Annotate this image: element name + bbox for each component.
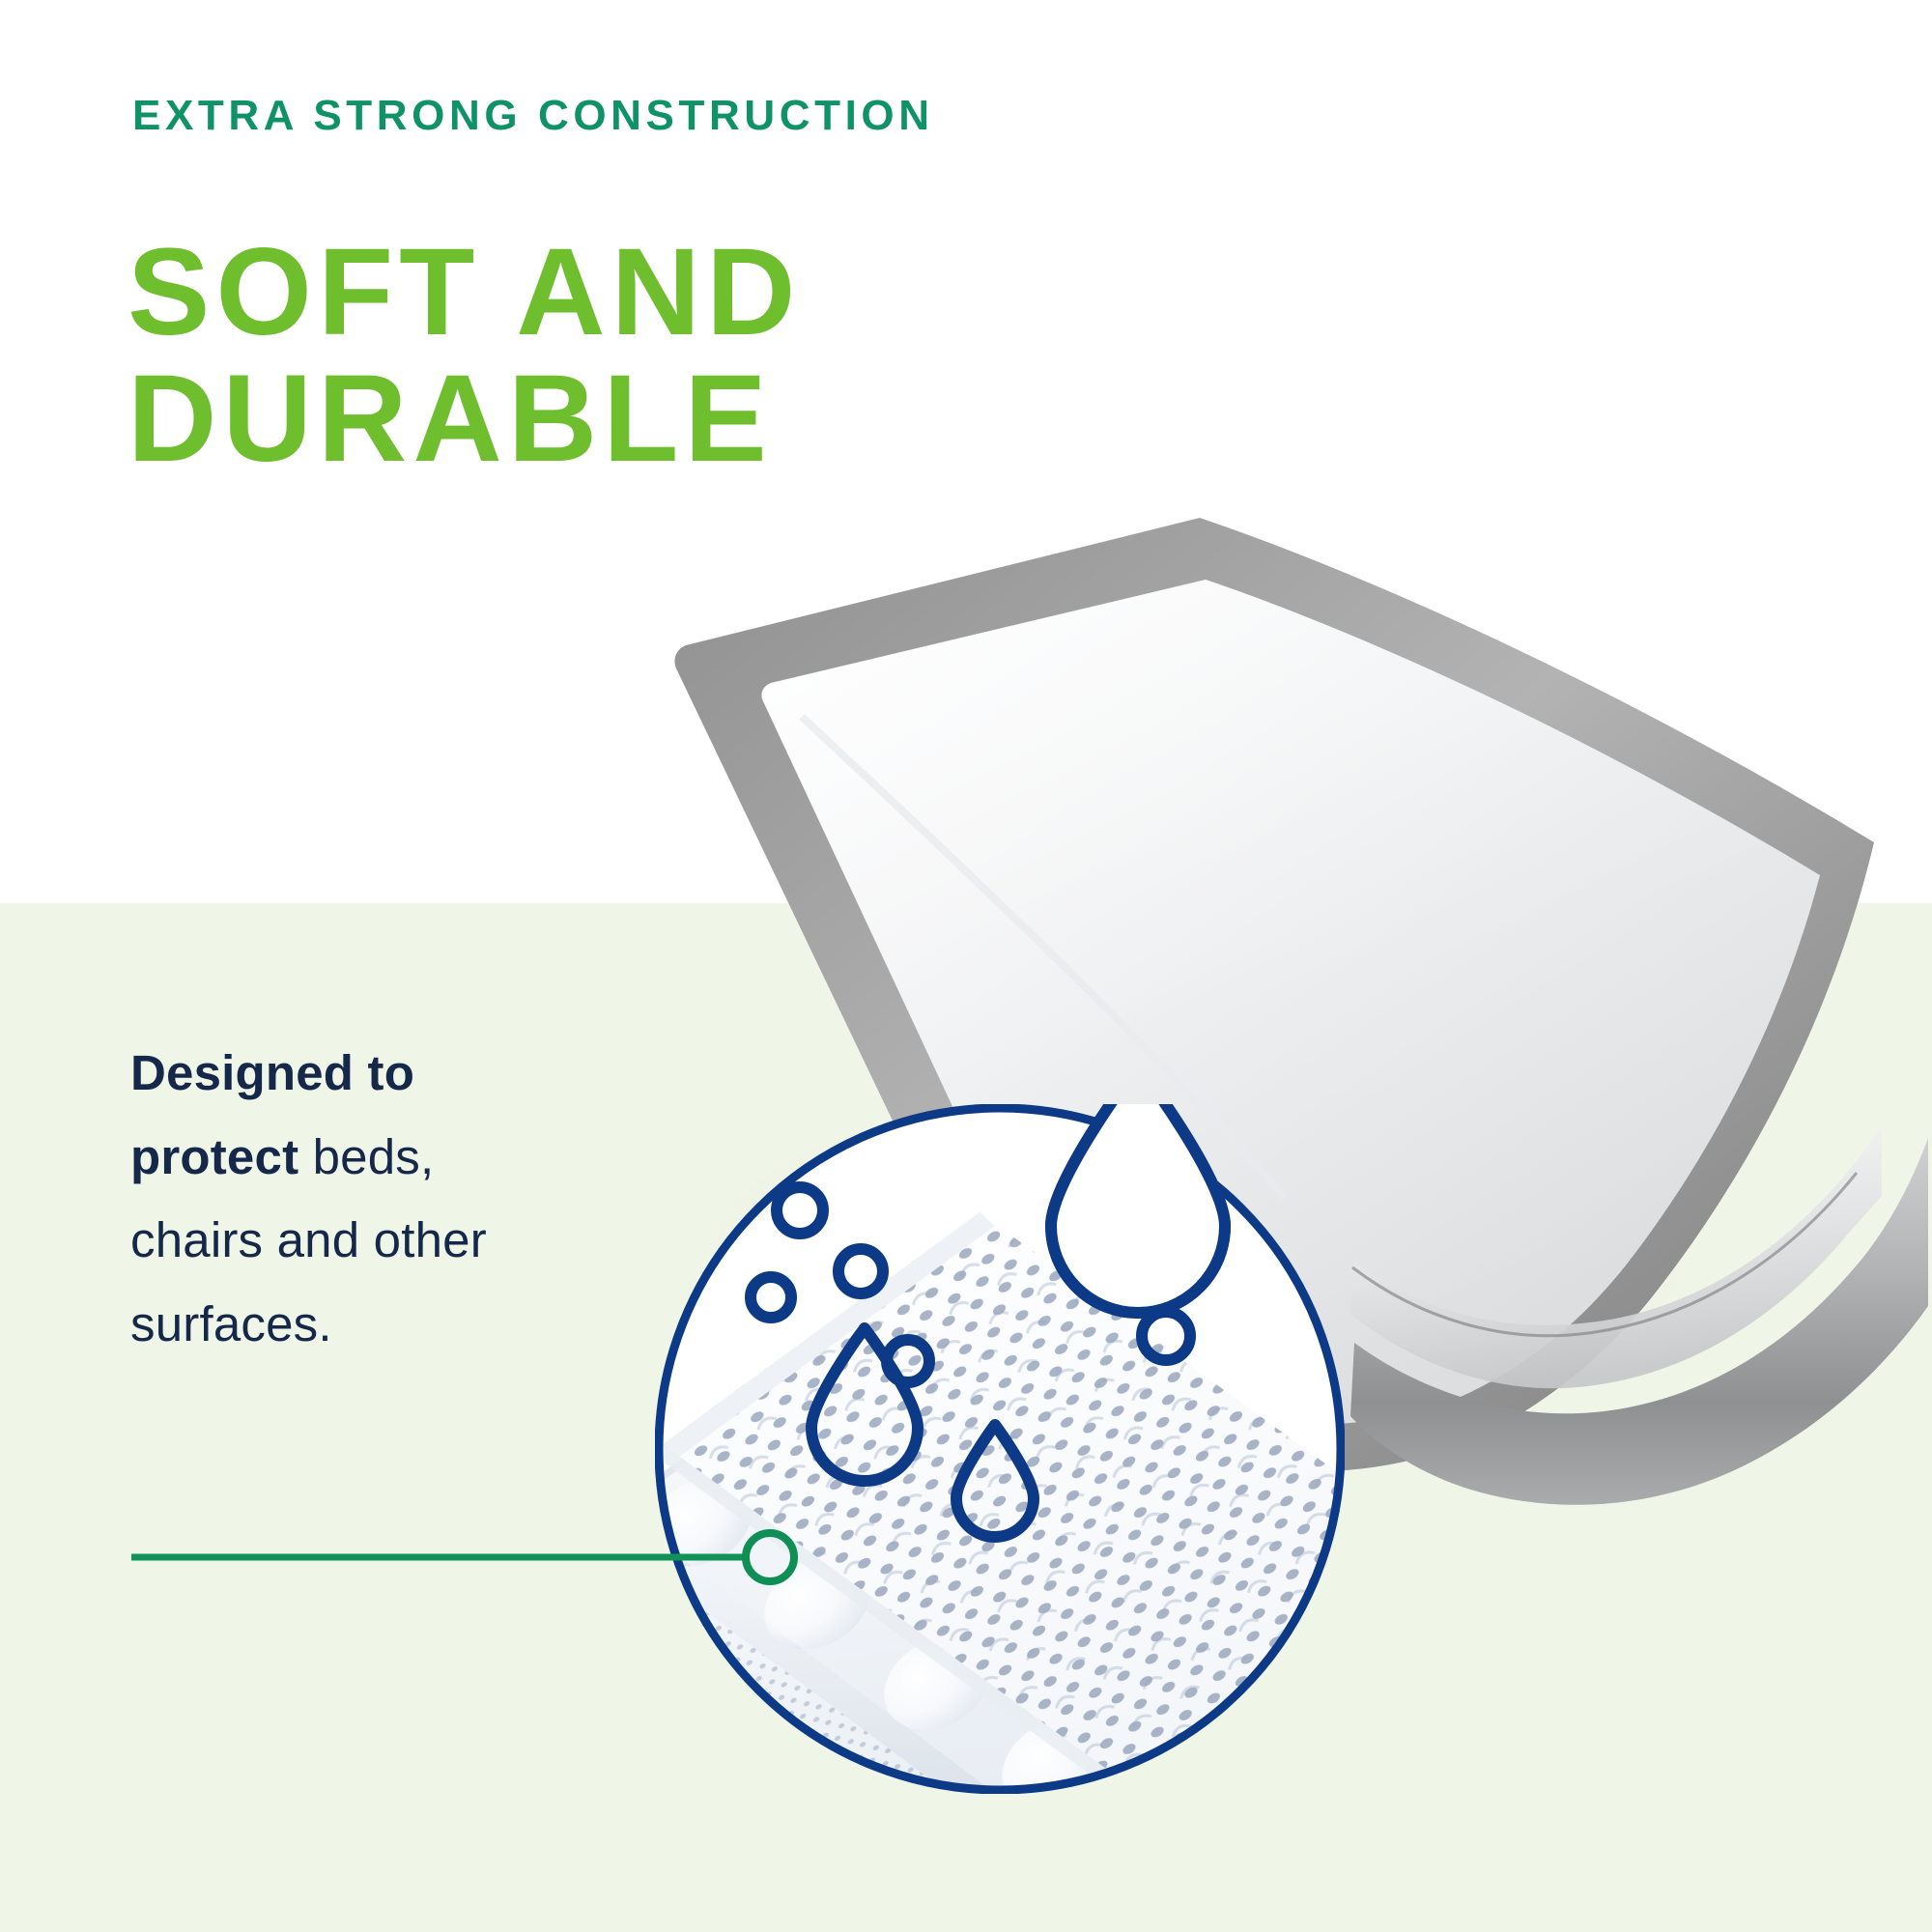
- headline-line-1: SOFT AND: [128, 230, 801, 356]
- magnified-callout-circle: [655, 1104, 1345, 1794]
- body-copy: Designed to protect beds, chairs and oth…: [130, 1032, 671, 1367]
- body-rest-3: surfaces.: [130, 1296, 332, 1351]
- body-lead-bold: Designed to: [130, 1045, 414, 1100]
- body-rest-1: beds,: [298, 1129, 434, 1184]
- body-rest-2: chairs and other: [130, 1212, 487, 1267]
- headline-line-2: DURABLE: [128, 356, 801, 483]
- body-emphasis: protect: [130, 1129, 298, 1184]
- marketing-graphic: EXTRA STRONG CONSTRUCTION SOFT AND DURAB…: [0, 0, 1932, 1932]
- eyebrow-text: EXTRA STRONG CONSTRUCTION: [132, 95, 934, 137]
- page-title: SOFT AND DURABLE: [128, 230, 801, 482]
